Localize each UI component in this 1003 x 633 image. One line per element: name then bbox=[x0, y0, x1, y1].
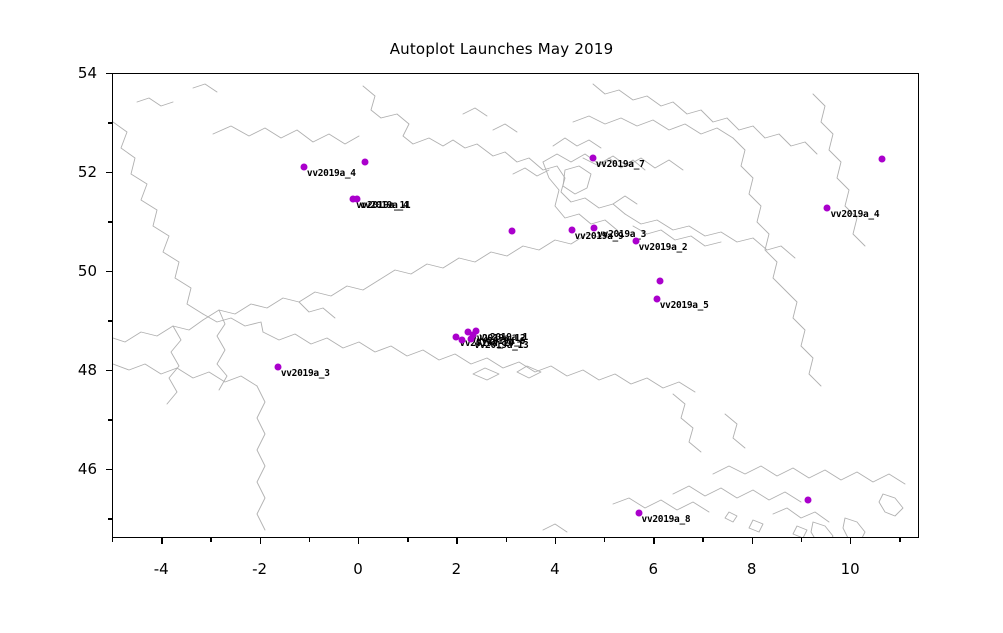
x-tick-label: 6 bbox=[648, 560, 658, 578]
figure-canvas: Autoplot Launches May 2019 bbox=[0, 0, 1003, 633]
x-tick bbox=[555, 538, 556, 544]
y-tick bbox=[106, 73, 112, 74]
chart-title: Autoplot Launches May 2019 bbox=[0, 40, 1003, 58]
x-tick-label: 8 bbox=[747, 560, 757, 578]
map-axes: vv2019a_4vv2019a_11vv2019a_4vv2019a_7vv2… bbox=[112, 73, 919, 538]
y-tick-minor bbox=[108, 518, 112, 519]
point-annotation-label: vv2019a_5 bbox=[660, 300, 709, 311]
x-tick-minor bbox=[407, 538, 408, 542]
x-tick-minor bbox=[801, 538, 802, 542]
x-tick bbox=[653, 538, 654, 544]
x-tick bbox=[752, 538, 753, 544]
scatter-point[interactable] bbox=[508, 228, 515, 235]
x-tick bbox=[260, 538, 261, 544]
x-tick-label: 0 bbox=[353, 560, 363, 578]
y-tick-label: 50 bbox=[57, 262, 97, 280]
point-annotation-label: vv2019a_4 bbox=[360, 200, 409, 211]
x-tick-minor bbox=[604, 538, 605, 542]
x-tick-minor bbox=[506, 538, 507, 542]
coastline-layer bbox=[113, 74, 919, 538]
scatter-point[interactable] bbox=[657, 277, 664, 284]
point-annotation-label: vv2019a_4 bbox=[307, 168, 356, 179]
point-annotation-label: vv2019a_8 bbox=[642, 514, 691, 525]
y-tick-label: 48 bbox=[57, 361, 97, 379]
point-annotation-label: vv2019a_3 bbox=[281, 368, 330, 379]
y-tick-label: 52 bbox=[57, 163, 97, 181]
x-tick-label: -2 bbox=[252, 560, 267, 578]
y-tick-minor bbox=[108, 419, 112, 420]
scatter-point[interactable] bbox=[361, 159, 368, 166]
point-annotation-label: vv2019a_7 bbox=[596, 159, 645, 170]
x-tick bbox=[850, 538, 851, 544]
point-annotation-label: vv2019a_2 bbox=[639, 242, 688, 253]
point-annotation-label: vv2019a_4 bbox=[830, 209, 879, 220]
y-tick-minor bbox=[108, 320, 112, 321]
x-tick-minor bbox=[309, 538, 310, 542]
y-tick-label: 54 bbox=[57, 64, 97, 82]
scatter-point[interactable] bbox=[878, 156, 885, 163]
y-tick-label: 46 bbox=[57, 460, 97, 478]
y-tick bbox=[106, 370, 112, 371]
x-tick bbox=[358, 538, 359, 544]
scatter-point[interactable] bbox=[804, 497, 811, 504]
x-tick-label: 10 bbox=[841, 560, 860, 578]
x-tick-minor bbox=[112, 538, 113, 542]
x-tick bbox=[161, 538, 162, 544]
x-tick-minor bbox=[702, 538, 703, 542]
y-tick-minor bbox=[108, 122, 112, 123]
y-tick bbox=[106, 469, 112, 470]
scatter-point[interactable] bbox=[459, 337, 466, 344]
y-tick-minor bbox=[108, 221, 112, 222]
x-tick-minor bbox=[210, 538, 211, 542]
x-tick-label: 2 bbox=[452, 560, 462, 578]
x-tick-minor bbox=[899, 538, 900, 542]
y-tick bbox=[106, 172, 112, 173]
point-annotation-label: vv2019a_13 bbox=[474, 340, 528, 351]
y-tick bbox=[106, 271, 112, 272]
x-tick-label: -4 bbox=[154, 560, 169, 578]
x-tick bbox=[456, 538, 457, 544]
x-tick-label: 4 bbox=[550, 560, 560, 578]
